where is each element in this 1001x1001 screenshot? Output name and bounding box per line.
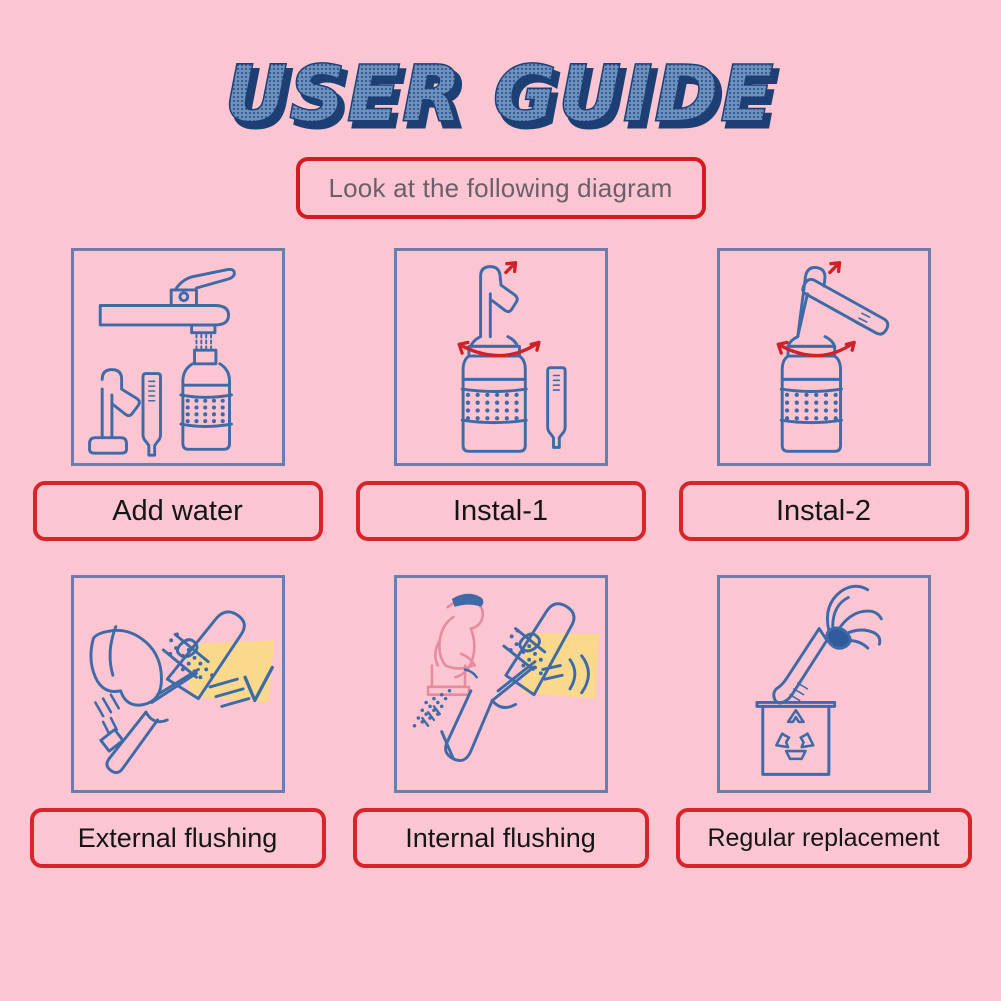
step-illustration-1 bbox=[71, 248, 285, 466]
step-card-6: Regular replacement bbox=[662, 575, 985, 868]
internal-flush-toilet-icon bbox=[397, 578, 605, 790]
step-label-1: Add water bbox=[33, 481, 323, 541]
user-guide-page: USER GUIDE USER GUIDE USER GUIDE Look at… bbox=[0, 0, 1001, 1001]
title-fill-layer: USER GUIDE bbox=[225, 52, 776, 136]
steps-grid: Add water bbox=[16, 248, 985, 868]
grip-dots-1 bbox=[185, 399, 224, 423]
step-card-5: Internal flushing bbox=[339, 575, 662, 868]
step-card-1: Add water bbox=[16, 248, 339, 541]
seated-person-figure bbox=[428, 600, 483, 694]
step-label-6: Regular replacement bbox=[676, 808, 972, 868]
step-label-3: Instal-2 bbox=[679, 481, 969, 541]
bottle-screw-long-tube-icon bbox=[720, 251, 928, 463]
grip-dots-3 bbox=[784, 393, 837, 421]
step-illustration-3 bbox=[717, 248, 931, 466]
recycle-symbol bbox=[776, 710, 813, 759]
step-card-3: Instal-2 bbox=[662, 248, 985, 541]
step-label-5: Internal flushing bbox=[353, 808, 649, 868]
faucet-filling-bottle-icon bbox=[74, 251, 282, 463]
step-label-2: Instal-1 bbox=[356, 481, 646, 541]
external-flush-spray-icon bbox=[74, 578, 282, 790]
step-illustration-6 bbox=[717, 575, 931, 793]
step-card-4: External flushing bbox=[16, 575, 339, 868]
step-illustration-2 bbox=[394, 248, 608, 466]
page-title: USER GUIDE USER GUIDE USER GUIDE bbox=[0, 52, 1001, 136]
discard-tube-recycle-bin-icon bbox=[720, 578, 928, 790]
step-card-2: Instal-1 bbox=[339, 248, 662, 541]
title-stack: USER GUIDE USER GUIDE USER GUIDE bbox=[225, 52, 776, 136]
step-illustration-4 bbox=[71, 575, 285, 793]
bottle-screw-nozzle-icon bbox=[397, 251, 605, 463]
subtitle-text: Look at the following diagram bbox=[296, 157, 706, 219]
step-illustration-5 bbox=[394, 575, 608, 793]
step-label-4: External flushing bbox=[30, 808, 326, 868]
grip-dots-2 bbox=[465, 393, 518, 421]
subtitle-banner: Look at the following diagram bbox=[0, 157, 1001, 219]
